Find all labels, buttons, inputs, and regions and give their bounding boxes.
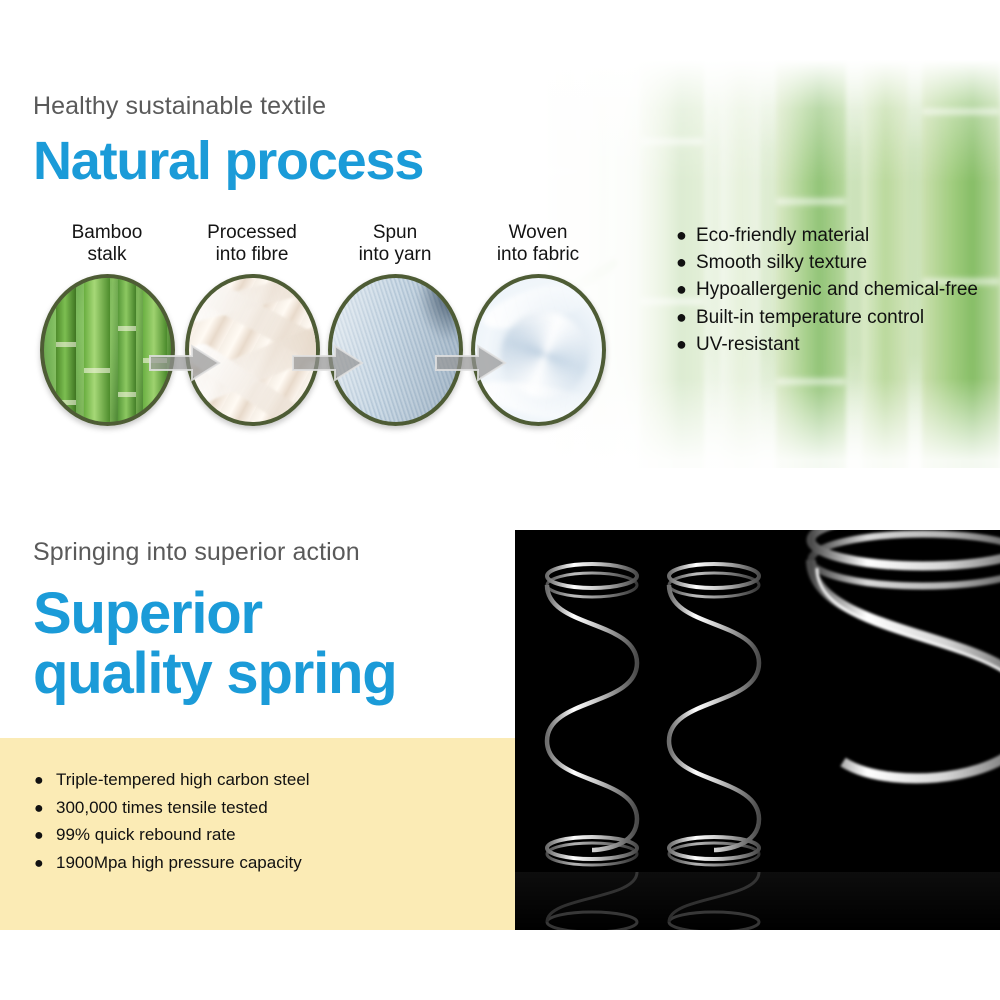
step-label-line2: into yarn [359, 244, 432, 265]
bullet-icon: ● [676, 335, 696, 353]
bullet-icon: ● [676, 308, 696, 326]
process-step-woven-into-fabric: Woveninto fabric [463, 222, 613, 265]
superior-spring-feature-list: ● Triple-tempered high carbon steel ● 30… [34, 770, 310, 881]
list-item: ● Hypoallergenic and chemical-free [676, 278, 978, 301]
list-item: ● Smooth silky texture [676, 251, 978, 274]
natural-process-section: Healthy sustainable textile Natural proc… [0, 0, 1000, 470]
bullet-icon: ● [34, 856, 56, 872]
right-arrow-icon [148, 344, 222, 382]
footer-spacer [0, 930, 1000, 1000]
step-label-line1: Spun [373, 222, 417, 243]
bullet-icon: ● [676, 253, 696, 271]
natural-process-feature-list: ● Eco-friendly material ● Smooth silky t… [676, 224, 978, 360]
bullet-icon: ● [676, 226, 696, 244]
step-label-line2: into fabric [497, 244, 579, 265]
step-label-line1: Processed [207, 222, 297, 243]
superior-spring-headline: Superior quality spring [33, 584, 483, 705]
right-arrow-icon [291, 344, 365, 382]
process-step-spun-into-yarn: Spuninto yarn [320, 222, 470, 265]
process-step-processed-into-fibre: Processedinto fibre [177, 222, 327, 265]
headline-line2: quality spring [33, 641, 396, 706]
list-item: ● Eco-friendly material [676, 224, 978, 247]
product-feature-page: Healthy sustainable textile Natural proc… [0, 0, 1000, 1000]
step-label-line1: Woven [509, 222, 568, 243]
step-label-line2: into fibre [216, 244, 289, 265]
natural-process-headline: Natural process [33, 134, 423, 189]
bullet-icon: ● [34, 801, 56, 817]
list-item: ● Triple-tempered high carbon steel [34, 770, 310, 791]
headline-line1: Superior [33, 581, 262, 646]
superior-spring-kicker: Springing into superior action [33, 538, 360, 567]
step-label-line1: Bamboo [72, 222, 143, 243]
bullet-icon: ● [34, 828, 56, 844]
step-label-line2: stalk [87, 244, 126, 265]
list-item: ● 1900Mpa high pressure capacity [34, 853, 310, 874]
chrome-coil-springs-photo [515, 530, 1000, 930]
natural-process-kicker: Healthy sustainable textile [33, 92, 326, 121]
list-item: ● Built-in temperature control [676, 306, 978, 329]
bullet-icon: ● [676, 280, 696, 298]
bullet-icon: ● [34, 773, 56, 789]
right-arrow-icon [434, 344, 508, 382]
process-step-bamboo-stalk: Bamboostalk [32, 222, 182, 265]
list-item: ● UV-resistant [676, 333, 978, 356]
list-item: ● 99% quick rebound rate [34, 825, 310, 846]
process-steps: Bamboostalk Processedinto fibre Spuninto… [32, 222, 622, 462]
list-item: ● 300,000 times tensile tested [34, 798, 310, 819]
